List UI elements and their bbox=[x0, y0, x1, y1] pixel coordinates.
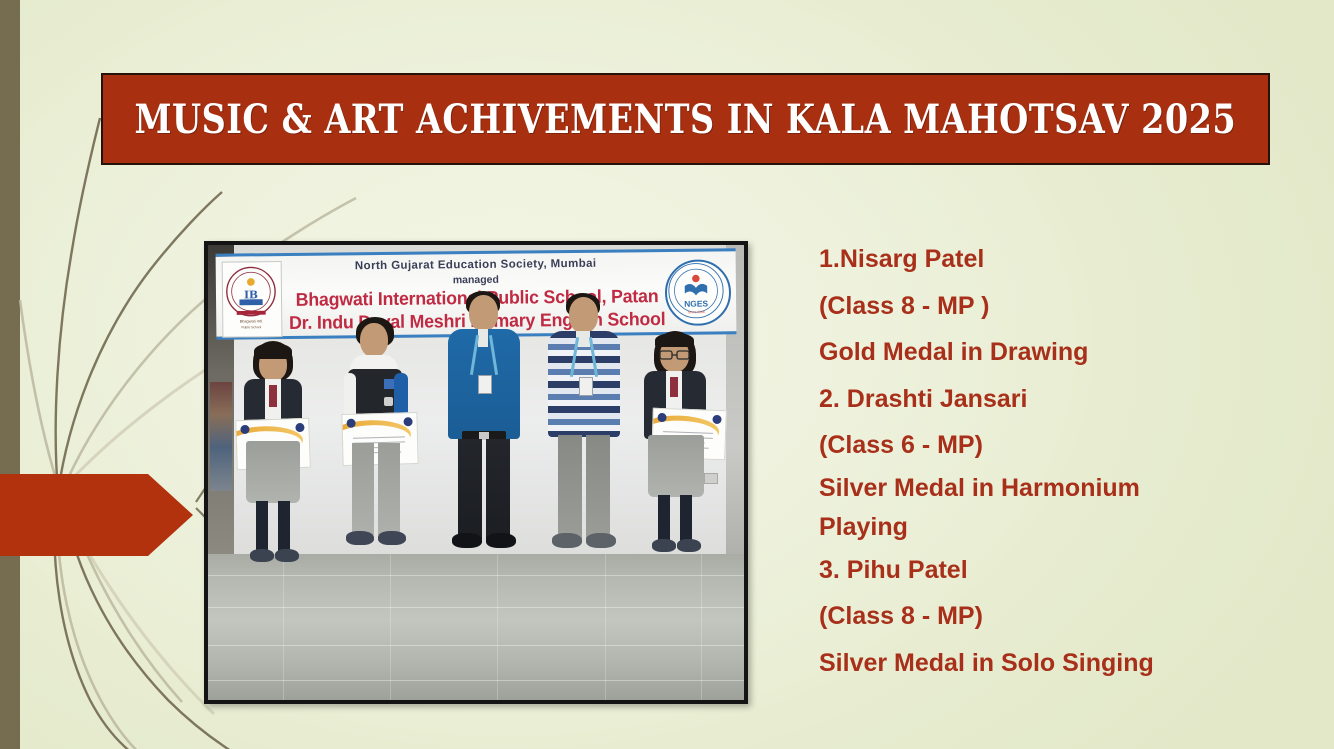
award-ceremony-photo: IB Bhagwati Intl. Public School North Gu… bbox=[204, 241, 748, 704]
teacher-striped-sweater bbox=[540, 293, 628, 573]
svg-text:IB: IB bbox=[244, 288, 258, 301]
achievement-line: Silver Medal in Harmonium Playing bbox=[819, 469, 1194, 547]
id-badge bbox=[478, 375, 492, 394]
student-girl-right bbox=[636, 331, 722, 573]
achievement-line: Silver Medal in Solo Singing bbox=[819, 640, 1219, 687]
achievement-line: Gold Medal in Drawing bbox=[819, 329, 1219, 376]
teacher-blue-shirt bbox=[440, 291, 528, 573]
arrow-accent-shape bbox=[0, 474, 193, 556]
achievement-line: (Class 8 - MP ) bbox=[819, 283, 1219, 330]
glasses-icon bbox=[659, 350, 691, 360]
achievements-list: 1.Nisarg Patel (Class 8 - MP ) Gold Meda… bbox=[819, 236, 1219, 686]
page-title: MUSIC & ART ACHIVEMENTS IN KALA MAHOTSAV… bbox=[135, 96, 1237, 143]
svg-text:NGES: NGES bbox=[684, 298, 708, 308]
svg-text:Public School: Public School bbox=[241, 325, 261, 329]
svg-text:Since 1964: Since 1964 bbox=[688, 310, 705, 314]
student-boy bbox=[336, 317, 420, 575]
achievement-line: 2. Drashti Jansari bbox=[819, 376, 1219, 423]
student-girl-left bbox=[236, 341, 316, 571]
achievement-line: (Class 6 - MP) bbox=[819, 422, 1219, 469]
svg-text:Bhagwati Intl.: Bhagwati Intl. bbox=[240, 319, 263, 323]
nges-circular-logo: NGES Since 1964 bbox=[665, 259, 732, 326]
achievement-line: 1.Nisarg Patel bbox=[819, 236, 1219, 283]
achievement-line: 3. Pihu Patel bbox=[819, 547, 1219, 594]
left-accent-band bbox=[0, 0, 20, 749]
achievement-line: (Class 8 - MP) bbox=[819, 593, 1219, 640]
slide-canvas: MUSIC & ART ACHIVEMENTS IN KALA MAHOTSAV… bbox=[0, 0, 1334, 749]
id-badge bbox=[579, 377, 593, 396]
slide-title-bar: MUSIC & ART ACHIVEMENTS IN KALA MAHOTSAV… bbox=[101, 73, 1270, 165]
